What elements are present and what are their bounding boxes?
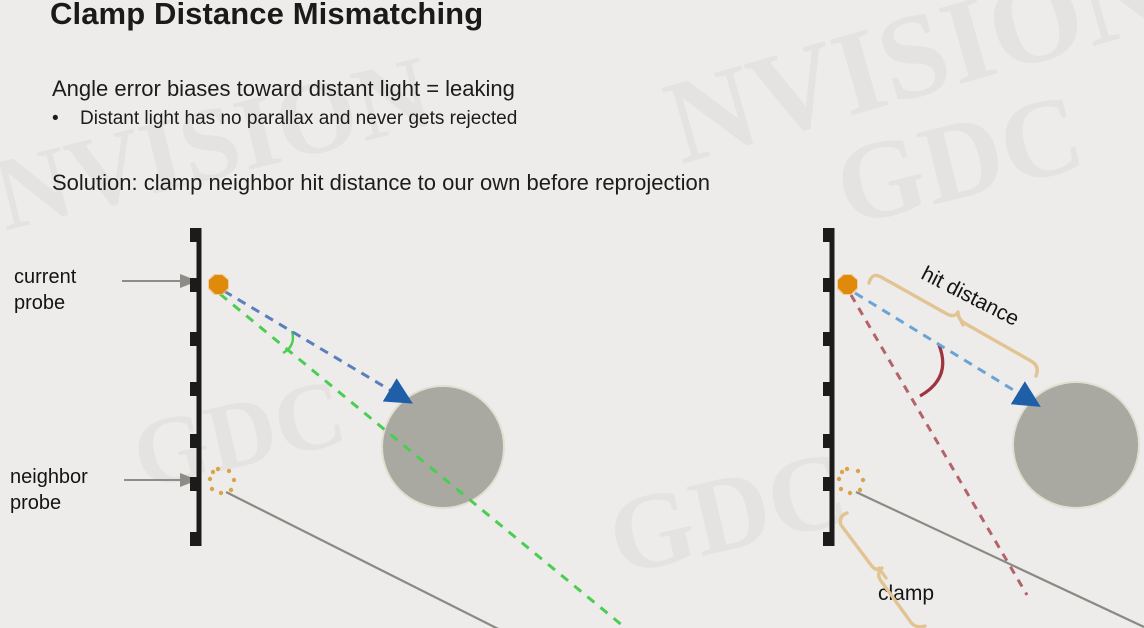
right-diagram	[823, 228, 1144, 627]
diagram-canvas	[0, 0, 1144, 628]
angle-error-arc	[283, 331, 293, 353]
hit-distance-brace	[869, 275, 1037, 376]
occluder-circle	[383, 387, 503, 507]
left-diagram	[122, 228, 640, 628]
slide-root: NVISION GDC NVISION GDC GDC Clamp Distan…	[0, 0, 1144, 628]
neighbor-probe-marker	[837, 467, 865, 495]
current-probe-hit-ray	[224, 291, 400, 396]
clamped-neighbor-ray	[851, 295, 1027, 595]
occluder-circle	[1014, 383, 1138, 507]
clamp-brace	[840, 513, 925, 627]
neighbor-probe-marker	[208, 467, 236, 495]
neighbor-probe-ray	[226, 492, 560, 628]
clamped-angle-arc	[920, 345, 943, 396]
